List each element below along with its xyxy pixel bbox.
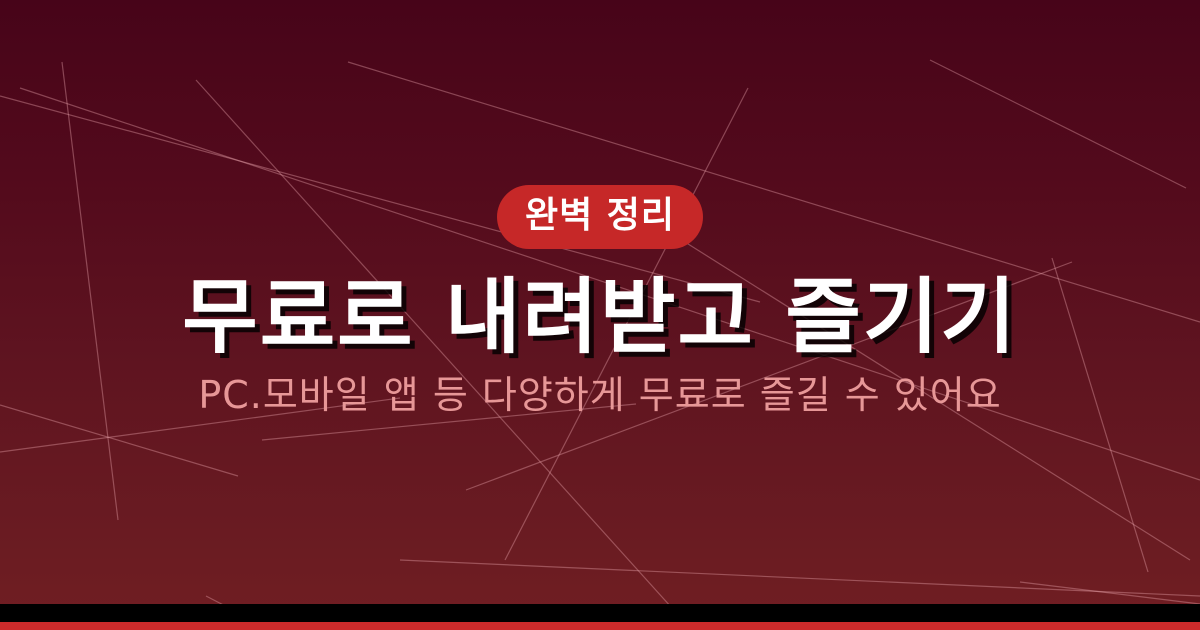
hero-subheadline: PC.모바일 앱 등 다양하게 무료로 즐길 수 있어요 bbox=[198, 373, 1001, 419]
hero-headline: 무료로 내려받고 즐기기 bbox=[182, 275, 1018, 361]
footer-black-bar bbox=[0, 604, 1200, 622]
footer-accent-bar bbox=[0, 622, 1200, 630]
hero-content: 완벽 정리 무료로 내려받고 즐기기 PC.모바일 앱 등 다양하게 무료로 즐… bbox=[0, 0, 1200, 604]
hero-badge: 완벽 정리 bbox=[497, 185, 703, 249]
og-image-canvas: 완벽 정리 무료로 내려받고 즐기기 PC.모바일 앱 등 다양하게 무료로 즐… bbox=[0, 0, 1200, 630]
